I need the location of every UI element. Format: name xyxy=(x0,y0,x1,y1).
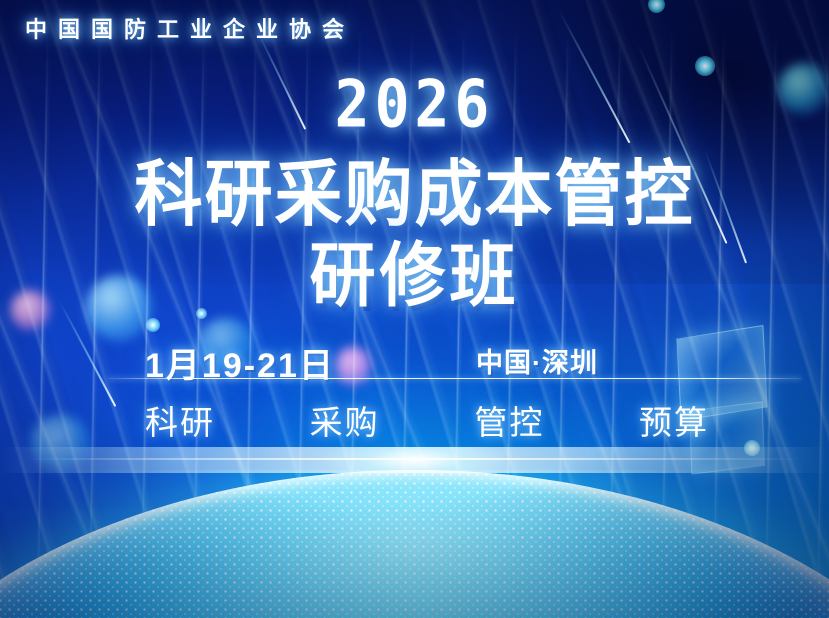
conference-poster: 中国国防工业企业协会 2026 科研采购成本管控 研修班 1月19-21日 中国… xyxy=(0,0,829,618)
event-meta-row: 1月19-21日 中国·深圳 xyxy=(0,338,829,378)
keyword-item-4: 预算 xyxy=(639,396,709,444)
association-name: 中国国防工业企业协会 xyxy=(25,12,355,44)
keyword-item-3: 管控 xyxy=(474,396,544,444)
year-heading: 2026 xyxy=(0,66,829,142)
poster-content: 中国国防工业企业协会 2026 科研采购成本管控 研修班 1月19-21日 中国… xyxy=(0,0,829,618)
keyword-item-2: 采购 xyxy=(310,396,380,444)
event-location: 中国·深圳 xyxy=(476,341,598,380)
keyword-item-1: 科研 xyxy=(145,396,215,444)
horizontal-divider xyxy=(108,378,801,379)
title-sub-line: 研修班 xyxy=(0,219,829,321)
keyword-list: 科研 采购 管控 预算 xyxy=(145,396,709,444)
event-date: 1月19-21日 xyxy=(145,338,335,387)
